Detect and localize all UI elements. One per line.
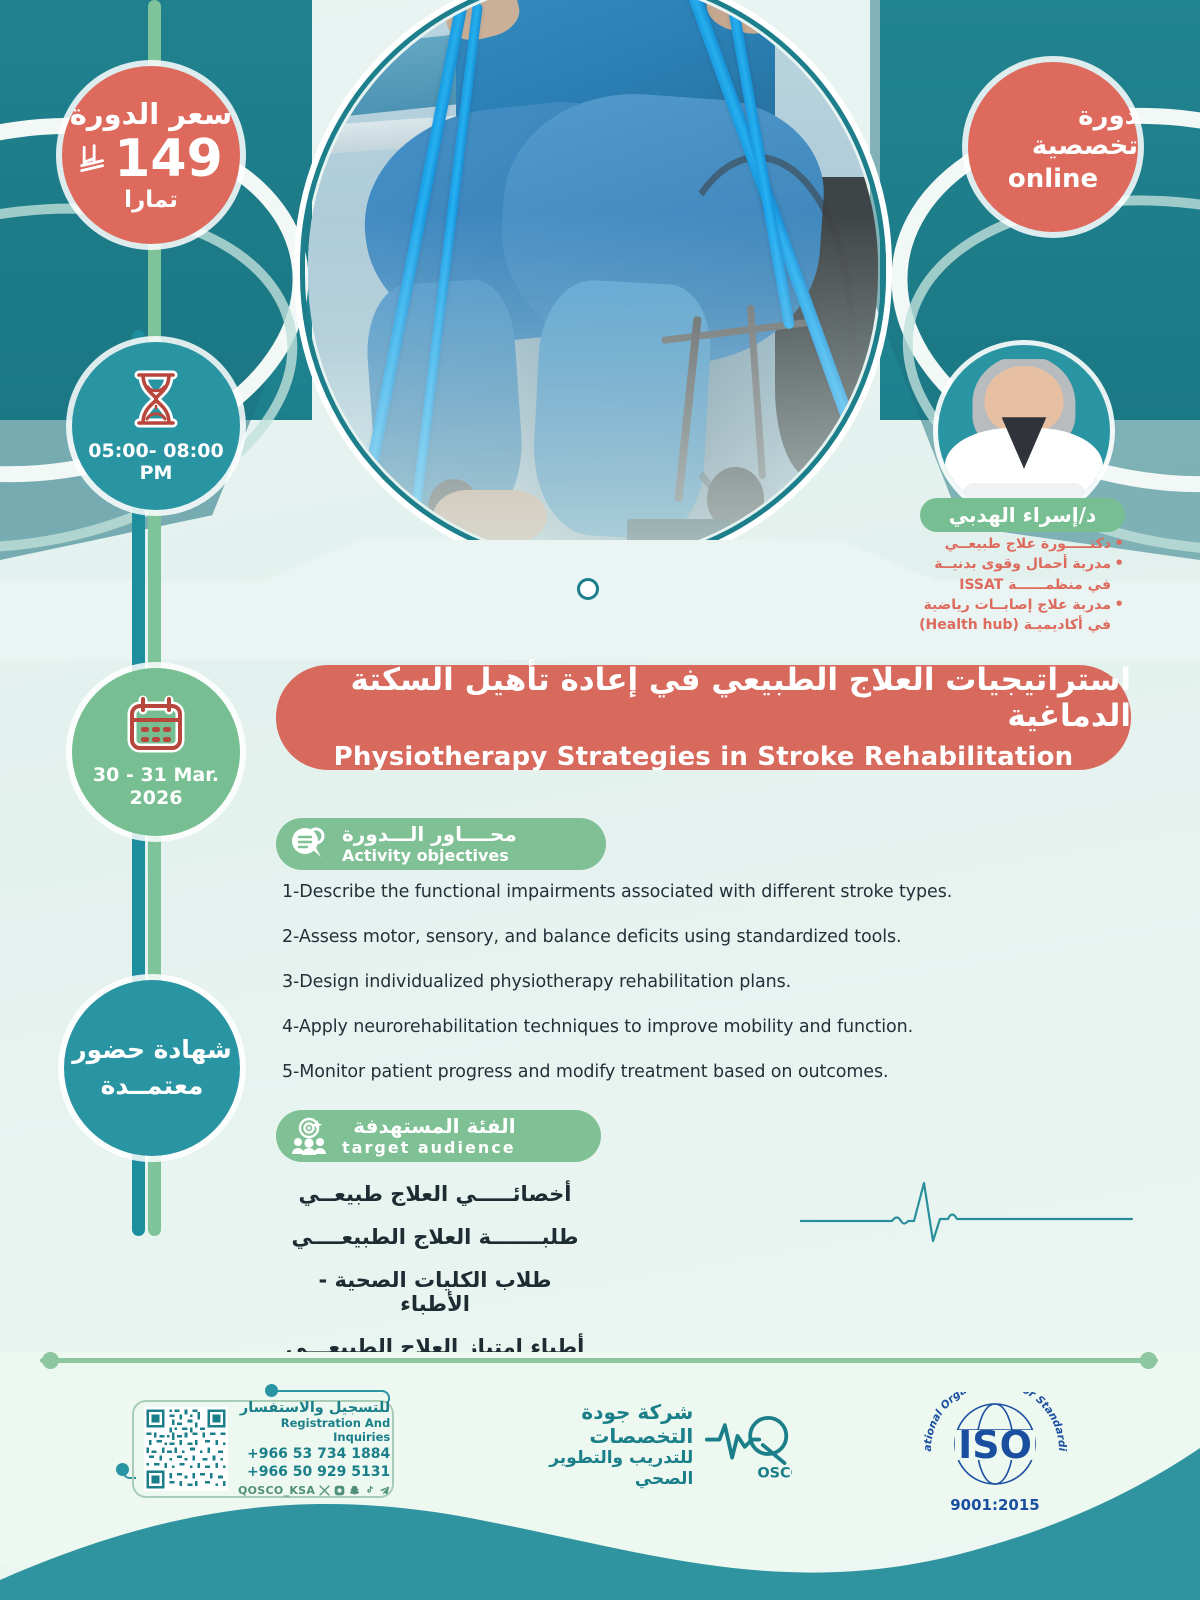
audience-heading-english: target audience	[342, 1139, 516, 1157]
certificate-line1: شهادة حضور	[72, 1032, 232, 1068]
instructor-name: د/إسراء الهدبي	[920, 498, 1125, 532]
objective-item: 5-Monitor patient progress and modify tr…	[282, 1062, 1002, 1084]
audience-list: أخصائـــــي العلاج طبيعــي طلبـــــــة ا…	[280, 1182, 590, 1378]
objectives-heading-english: Activity objectives	[342, 847, 517, 865]
hero-photo-tint	[308, 0, 878, 560]
course-title-banner: استراتيجيات العلاج الطبيعي في إعادة تأهي…	[276, 665, 1131, 770]
course-title-english: Physiotherapy Strategies in Stroke Rehab…	[334, 742, 1074, 772]
price-badge: سعر الدورة 149 تمارا	[62, 66, 240, 244]
date-line1: 30 - 31 Mar.	[93, 764, 219, 787]
svg-text:ISO: ISO	[958, 1423, 1032, 1467]
registration-phone-2[interactable]: +966 50 929 5131	[238, 1463, 390, 1481]
online-badge: دورة تخصصية online	[968, 62, 1138, 232]
time-text: 05:00- 08:00 PM	[72, 441, 240, 485]
instagram-icon[interactable]	[334, 1485, 345, 1496]
audience-heading-arabic: الفئة المستهدفة	[342, 1115, 516, 1137]
qosco-pulse-q-icon: OSCO	[705, 1405, 792, 1485]
hero-image	[308, 0, 878, 560]
brand-logo-block: شركة جودة التخصصات للتدريب والتطوير الصح…	[492, 1402, 792, 1488]
objectives-heading-pill: محــــاور الـــدورة Activity objectives	[276, 818, 606, 870]
instructor-credential: دكتـــــورة علاج طبيعــي	[892, 534, 1124, 554]
brand-name-line1: شركة جودة التخصصات	[492, 1400, 693, 1448]
saudi-riyal-icon	[79, 144, 106, 174]
price-amount: 149	[114, 133, 223, 185]
registration-title-arabic: للتسجيل والاستفسار	[238, 1401, 390, 1417]
instructor-credential: مدربة أحمال وقوى بدنيــة	[892, 554, 1124, 574]
date-badge: 30 - 31 Mar. 2026	[72, 668, 240, 836]
objectives-heading-arabic: محــــاور الـــدورة	[342, 823, 517, 845]
instructor-avatar	[938, 345, 1110, 517]
footer-divider-dot-right	[1140, 1352, 1157, 1369]
audience-item: طلاب الكليات الصحية - الأطباء	[280, 1268, 590, 1316]
date-line2: 2026	[130, 787, 183, 810]
registration-phone-1[interactable]: +966 53 734 1884	[238, 1445, 390, 1463]
audience-item: طلبـــــــة العلاج الطبيعــــي	[280, 1225, 590, 1249]
objectives-list: 1-Describe the functional impairments as…	[282, 882, 1002, 1106]
objective-item: 4-Apply neurorehabilitation techniques t…	[282, 1017, 1002, 1039]
price-label: سعر الدورة	[70, 97, 232, 131]
certificate-badge: شهادة حضور معتمــدة	[64, 980, 240, 1156]
hourglass-icon	[125, 367, 187, 435]
instructor-credential: في منظمــــــة ISSAT	[892, 575, 1124, 595]
audience-heading-pill: الفئة المستهدفة target audience	[276, 1110, 601, 1162]
iso-standard-number: 9001:2015	[950, 1496, 1040, 1514]
audience-item: أخصائـــــي العلاج طبيعــي	[280, 1182, 590, 1206]
objective-item: 3-Design individualized physiotherapy re…	[282, 972, 1002, 994]
snapchat-icon[interactable]	[349, 1485, 360, 1496]
ecg-heartbeat-line-icon	[800, 1175, 1140, 1245]
time-badge: 05:00- 08:00 PM	[72, 342, 240, 510]
objective-item: 2-Assess motor, sensory, and balance def…	[282, 927, 1002, 949]
iso-globe-icon: ISO International Organization for Stand…	[911, 1392, 1079, 1500]
instructor-credential: في أكاديميـة (Health hub)	[892, 615, 1124, 635]
certificate-line2: معتمــدة	[101, 1068, 204, 1104]
brand-name-line2: للتدريب والتطوير الصحي	[492, 1448, 693, 1491]
registration-lead-dot-bottom	[116, 1463, 129, 1476]
chat-bubble-lines-icon	[288, 823, 330, 865]
brand-logo-text: OSCO	[758, 1466, 792, 1482]
course-title-arabic: استراتيجيات العلاج الطبيعي في إعادة تأهي…	[276, 663, 1131, 734]
target-people-icon	[288, 1115, 330, 1157]
online-badge-english: online	[1008, 164, 1098, 194]
calendar-icon	[125, 694, 187, 758]
instructor-credentials: دكتـــــورة علاج طبيعــي مدربة أحمال وقو…	[892, 534, 1124, 635]
tiktok-icon[interactable]	[364, 1485, 375, 1496]
footer-divider	[40, 1358, 1158, 1363]
qr-code-icon[interactable]	[144, 1407, 228, 1491]
footer-divider-dot-left	[42, 1352, 59, 1369]
objective-item: 1-Describe the functional impairments as…	[282, 882, 1002, 904]
price-provider: تمارا	[124, 187, 178, 213]
registration-card[interactable]: للتسجيل والاستفسار Registration And Inqu…	[132, 1400, 394, 1498]
online-badge-arabic: دورة تخصصية	[968, 101, 1138, 161]
telegram-icon[interactable]	[379, 1485, 390, 1496]
course-poster: سعر الدورة 149 تمارا	[0, 0, 1200, 1600]
x-icon[interactable]	[319, 1485, 330, 1496]
iso-certification-badge: ISO International Organization for Stand…	[905, 1392, 1085, 1522]
instructor-credential: مدربة علاج إصابــات رياضية	[892, 595, 1124, 615]
social-handle: QOSCO_KSA	[238, 1484, 315, 1497]
registration-title-english: Registration And Inquiries	[238, 1417, 390, 1445]
hero-bottom-dot-icon	[577, 578, 599, 600]
